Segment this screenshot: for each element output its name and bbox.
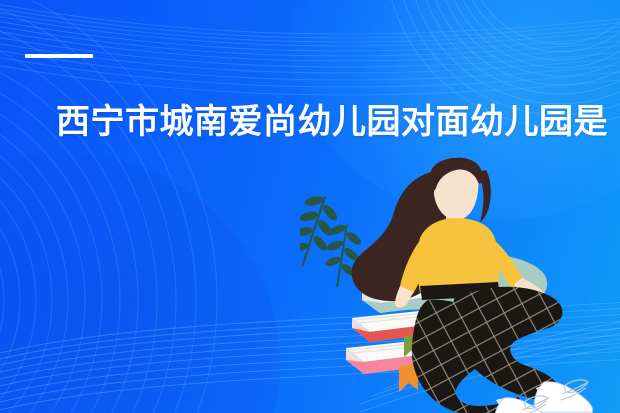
promo-banner: 西宁市城南爱尚幼儿园对面幼儿园是 [0, 0, 620, 413]
page-title: 西宁市城南爱尚幼儿园对面幼儿园是 [56, 100, 586, 144]
accent-rule [25, 54, 93, 58]
